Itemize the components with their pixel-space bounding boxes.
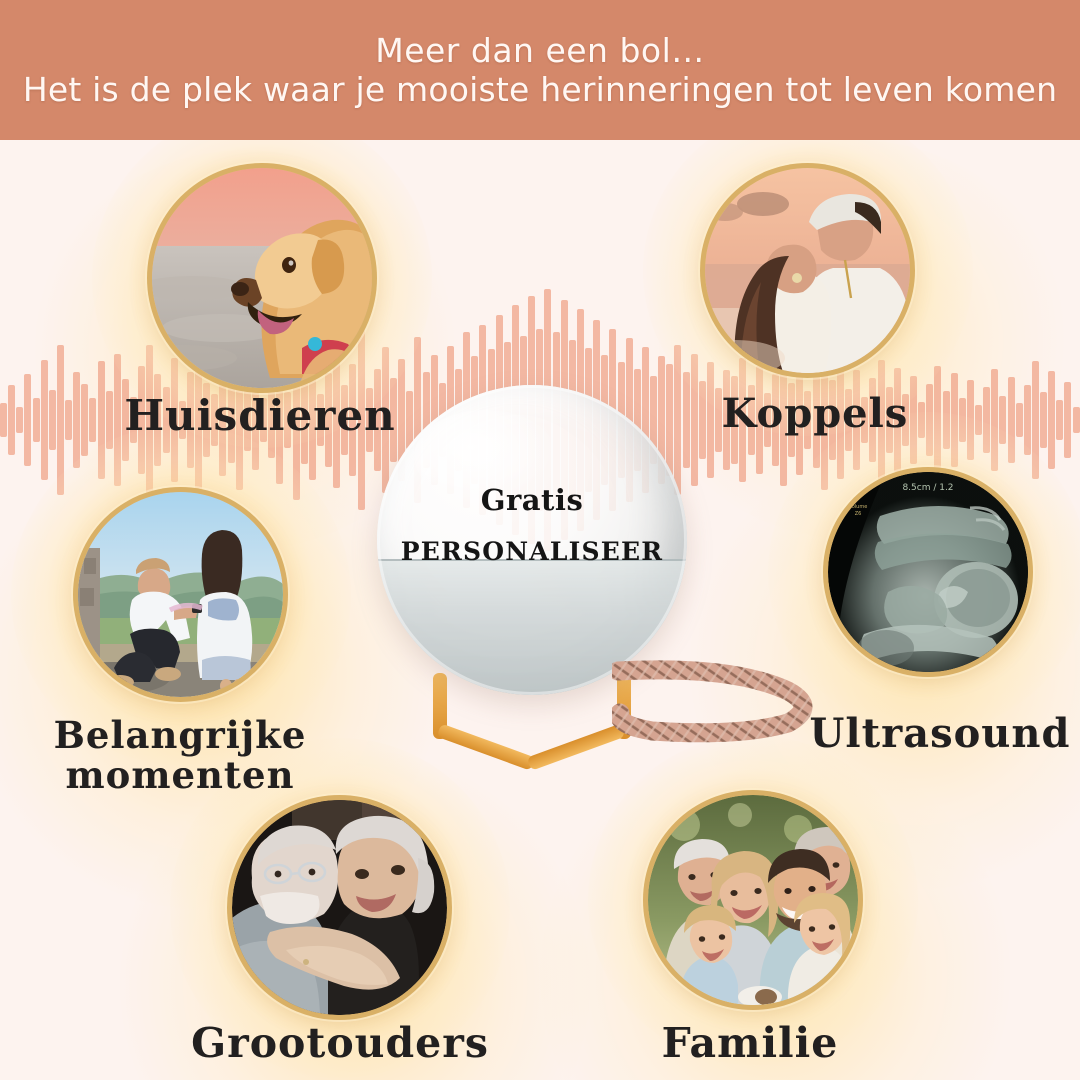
- waveform-bar: [73, 372, 80, 468]
- waveform-bar: [1064, 382, 1071, 458]
- waveform-bar: [1024, 385, 1031, 455]
- waveform-bar: [967, 380, 974, 460]
- label-belangrijke-momenten: Belangrijke momenten: [20, 716, 340, 796]
- photo-multigenerational-family-portrait-outdoors: [648, 795, 858, 1005]
- waveform-bar: [33, 398, 40, 442]
- waveform-bar: [1016, 403, 1023, 437]
- waveform-bar: [81, 384, 88, 456]
- waveform-bar: [999, 396, 1006, 444]
- waveform-bar: [89, 398, 96, 442]
- svg-text:8.5cm / 1.2: 8.5cm / 1.2: [902, 483, 953, 493]
- waveform-bar: [1048, 371, 1055, 469]
- waveform-bar: [934, 366, 941, 474]
- waveform-bar: [983, 387, 990, 453]
- category-grootouders[interactable]: [232, 800, 447, 1015]
- photo-golden-retriever-dog-on-beach-at-sunset: [152, 168, 372, 388]
- header-line-2: Het is de plek waar je mooiste herinneri…: [23, 73, 1057, 106]
- waveform-bar: [943, 391, 950, 449]
- label-koppels: Koppels: [700, 392, 930, 435]
- photo-marriage-proposal-on-mountain-overlook: [78, 492, 283, 697]
- waveform-bar: [49, 390, 56, 450]
- photo-elderly-couple-hugging: [232, 800, 447, 1015]
- lamp-strap-rope: [612, 657, 827, 743]
- photo-ring[interactable]: [648, 795, 858, 1005]
- svg-text:Z6: Z6: [855, 511, 862, 517]
- category-familie[interactable]: [648, 795, 858, 1005]
- waveform-bar: [1056, 400, 1063, 440]
- waveform-bar: [98, 361, 105, 479]
- header-line-1: Meer dan een bol…: [375, 34, 705, 67]
- category-koppels[interactable]: [705, 168, 910, 373]
- header-banner: Meer dan een bol… Het is de plek waar je…: [0, 0, 1080, 140]
- waveform-bar: [16, 407, 23, 433]
- waveform-bar: [975, 405, 982, 435]
- waveform-bar: [951, 373, 958, 467]
- waveform-bar: [8, 385, 15, 455]
- label-huisdieren: Huisdieren: [110, 393, 410, 438]
- waveform-bar: [959, 398, 966, 442]
- label-ultrasound: Ultrasound: [800, 712, 1080, 755]
- photo-ring[interactable]: [705, 168, 910, 373]
- waveform-bar: [991, 369, 998, 471]
- waveform-bar: [1032, 361, 1039, 479]
- label-grootouders: Grootouders: [180, 1021, 500, 1065]
- svg-text:Volume: Volume: [849, 504, 868, 510]
- waveform-bar: [0, 403, 7, 437]
- promo-graphic: Meer dan een bol… Het is de plek waar je…: [0, 0, 1080, 1080]
- photo-ring[interactable]: [152, 168, 372, 388]
- waveform-bar: [65, 400, 72, 440]
- lamp-text-personaliseer: PERSONALISEER: [372, 537, 692, 566]
- category-belangrijke-momenten[interactable]: [78, 492, 283, 697]
- photo-ring[interactable]: [232, 800, 447, 1015]
- photo-ring[interactable]: [78, 492, 283, 697]
- category-ultrasound[interactable]: 8.5cm / 1.2 Volume Z6: [828, 472, 1028, 672]
- waveform-bar: [1008, 377, 1015, 463]
- waveform-bar: [1040, 392, 1047, 448]
- photo-couple-embracing-at-sunset-beach: [705, 168, 910, 373]
- waveform-bar: [1073, 407, 1080, 433]
- lamp-text-gratis: Gratis: [372, 483, 692, 517]
- waveform-bar: [41, 360, 48, 480]
- waveform-bar: [24, 374, 31, 466]
- photo-ring[interactable]: 8.5cm / 1.2 Volume Z6: [828, 472, 1028, 672]
- moon-lamp[interactable]: Gratis PERSONALISEER: [372, 385, 692, 760]
- photo-fetal-ultrasound-scan: 8.5cm / 1.2 Volume Z6: [828, 472, 1028, 672]
- category-huisdieren[interactable]: [152, 168, 372, 388]
- waveform-bar: [57, 345, 64, 495]
- label-familie: Familie: [620, 1021, 880, 1065]
